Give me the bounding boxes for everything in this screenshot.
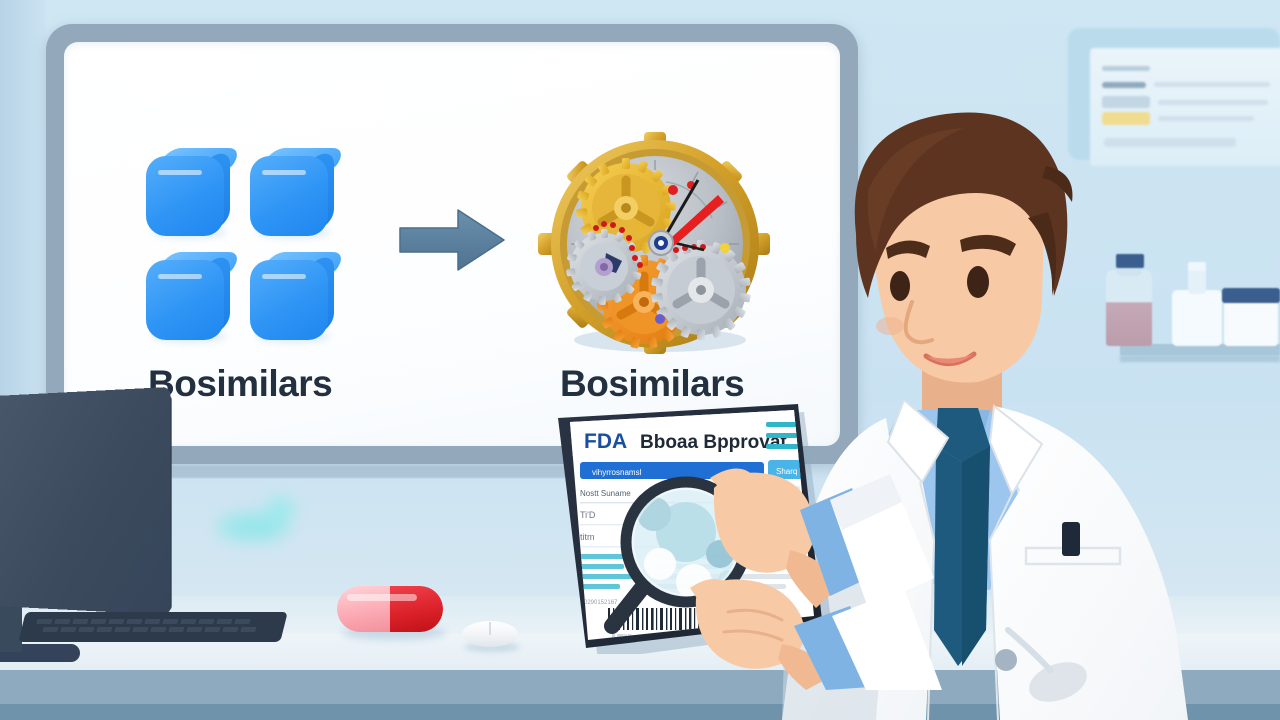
fda-brand-text: FDA [584, 430, 627, 453]
tablet-field-label: Nostt Suname [580, 489, 631, 498]
barcode-caption: 0290152167 [584, 600, 618, 606]
illustration-scene: Bosimilars Bosimilars [0, 0, 1280, 720]
pill-cube [146, 252, 234, 340]
doctor-hands [690, 430, 950, 690]
label-biosimilars-left: Bosimilars [148, 363, 332, 405]
ambient-glow [268, 498, 294, 520]
pen-icon [1062, 522, 1080, 556]
tablet-search-value: vihyrrosnamsl [592, 468, 642, 477]
desktop-monitor [0, 387, 171, 615]
right-arrow-icon [396, 204, 508, 276]
pill-cube [250, 252, 338, 340]
keyboard-keys [32, 617, 274, 633]
tablet-row-label: titm [580, 532, 595, 542]
pill-cube [146, 148, 234, 236]
tablet-row-label: Ti'D [580, 510, 596, 520]
monitor-stand [0, 600, 22, 652]
tablet-pill-score-line [489, 622, 491, 635]
pill-cube [250, 148, 338, 236]
capsule-pill [337, 586, 443, 632]
